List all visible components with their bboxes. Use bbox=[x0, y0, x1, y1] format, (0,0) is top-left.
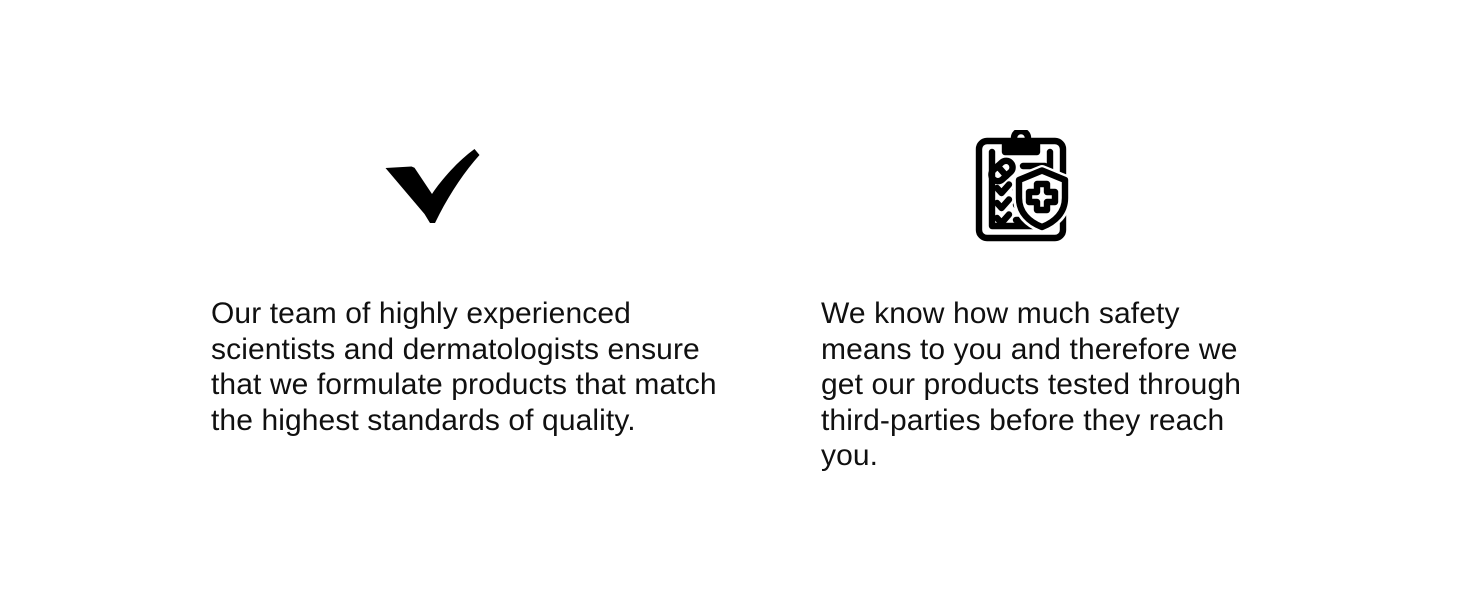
feature-block-quality: Our team of highly experienced scientist… bbox=[211, 0, 711, 600]
clipboard-shield-icon bbox=[975, 130, 1075, 255]
feature-highlights-section: Our team of highly experienced scientist… bbox=[0, 0, 1464, 600]
feature-body-safety: We know how much safety means to you and… bbox=[821, 296, 1251, 474]
checkmark-icon bbox=[384, 130, 494, 255]
feature-body-quality: Our team of highly experienced scientist… bbox=[211, 296, 721, 438]
feature-block-safety: We know how much safety means to you and… bbox=[821, 0, 1241, 600]
